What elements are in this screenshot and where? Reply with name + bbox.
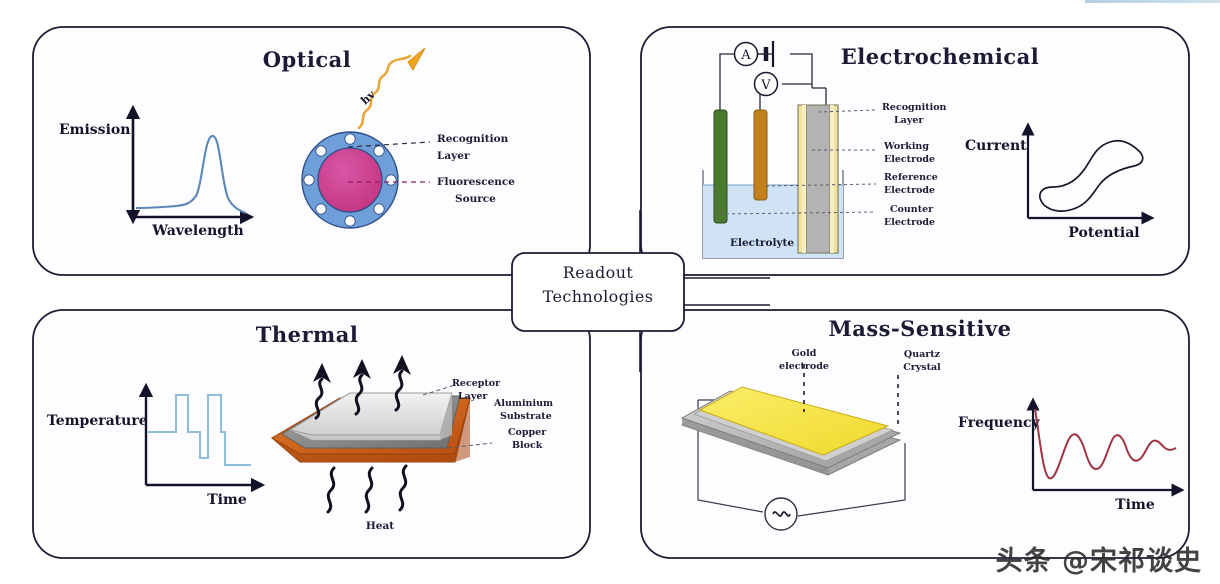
- optical-ylabel: Emission: [59, 122, 130, 138]
- ms-xlabel: Time: [1115, 497, 1155, 513]
- ec-callout-2-line1: Reference: [884, 172, 938, 183]
- optical-callout-1-line2: Source: [455, 193, 496, 205]
- ec-callout-1-line1: Working: [883, 141, 929, 152]
- watermark: 头条 @宋祁谈史: [996, 539, 1202, 578]
- electrolyte-label: Electrolyte: [730, 237, 794, 249]
- optical-callout-0-line2: Layer: [437, 150, 470, 162]
- ec-callout-0-line1: Recognition: [882, 102, 947, 113]
- ms-callout-1-line1: Quartz: [904, 349, 941, 360]
- ammeter-label: A: [740, 48, 751, 63]
- thermal-callout-0-line2: Layer: [458, 391, 488, 402]
- panel-title-thermal: Thermal: [256, 322, 359, 347]
- optical-callout-1-line1: Fluorescence: [437, 176, 515, 188]
- ms-ylabel: Frequency: [958, 415, 1041, 431]
- ms-callout-0-line2: electrode: [779, 361, 829, 372]
- ec-callout-0-line2: Layer: [894, 115, 924, 126]
- thermal-callout-1-line1: Aluminium: [493, 398, 553, 409]
- ms-callout-1-line2: Crystal: [903, 362, 941, 373]
- thermal-ylabel: Temperature: [47, 413, 148, 429]
- panel-title-electrochemical: Electrochemical: [841, 44, 1039, 69]
- hub-label-line1: Readout: [563, 263, 634, 282]
- panel-title-mass-sensitive: Mass-Sensitive: [828, 316, 1011, 341]
- ms-callout-0-line1: Gold: [792, 348, 817, 359]
- thermal-callout-2-line1: Copper: [508, 427, 547, 438]
- working-electrode-stack: [798, 105, 838, 253]
- ec-callout-3-line2: Electrode: [884, 217, 935, 228]
- thermal-callout-0-line1: Receptor: [452, 378, 501, 389]
- diagram-canvas: Readout Technologies Optical Emission Wa…: [0, 0, 1220, 584]
- optical-callout-0-line1: Recognition: [437, 133, 509, 145]
- thermal-callout-1-line2: Substrate: [500, 411, 552, 422]
- panel-title-optical: Optical: [263, 47, 352, 72]
- voltmeter-label: V: [760, 78, 771, 93]
- ec-ylabel: Current: [965, 138, 1027, 154]
- diagram-svg: Readout Technologies Optical Emission Wa…: [0, 0, 1220, 584]
- fluorescence-core: [318, 148, 382, 212]
- optical-xlabel: Wavelength: [151, 223, 243, 239]
- counter-electrode: [714, 110, 727, 223]
- ec-callout-1-line2: Electrode: [884, 154, 935, 165]
- thermal-heat-label: Heat: [366, 520, 394, 532]
- thermal-callout-2-line2: Block: [512, 440, 543, 451]
- thermal-xlabel: Time: [207, 492, 247, 508]
- ec-callout-2-line2: Electrode: [884, 185, 935, 196]
- ec-xlabel: Potential: [1068, 225, 1139, 241]
- hub-label-line2: Technologies: [543, 287, 654, 306]
- oscillator-icon: [765, 498, 797, 530]
- ec-callout-3-line1: Counter: [890, 204, 934, 215]
- reference-electrode: [754, 110, 767, 200]
